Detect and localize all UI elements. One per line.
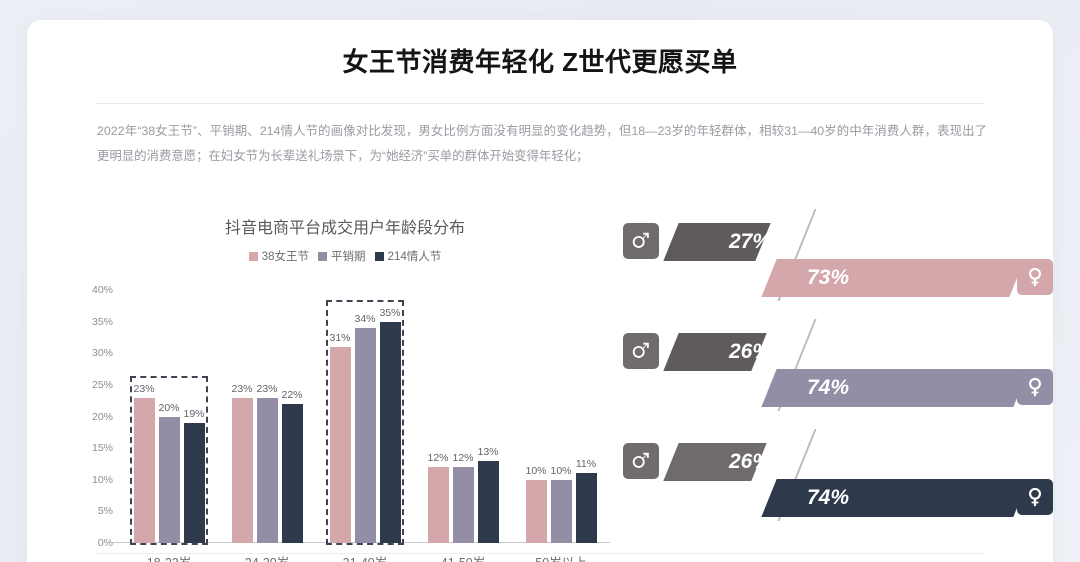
- bar-groups: 23%20%19%23%23%22%31%34%35%12%12%13%10%1…: [120, 290, 610, 543]
- bar[interactable]: [159, 417, 180, 544]
- bottom-divider: [95, 553, 985, 554]
- female-percent-bar[interactable]: 74%: [761, 369, 1028, 407]
- male-percent-label: 26%: [729, 450, 771, 474]
- bar[interactable]: [478, 461, 499, 543]
- legend-swatch: [249, 252, 258, 261]
- chart-plot-area: 0%5%10%15%20%25%30%35%40% 23%20%19%23%23…: [120, 290, 610, 543]
- bar-group: 23%23%22%: [218, 290, 316, 543]
- y-axis-tick: 25%: [92, 379, 113, 391]
- bar-value-label: 10%: [550, 465, 571, 477]
- bar-value-label: 23%: [256, 383, 277, 395]
- bar[interactable]: [380, 322, 401, 543]
- bar-wrap: 31%: [330, 290, 351, 543]
- bar-group: 12%12%13%: [414, 290, 512, 543]
- bar[interactable]: [184, 423, 205, 543]
- bar-wrap: 34%: [355, 290, 376, 543]
- bar[interactable]: [232, 398, 253, 543]
- bar-value-label: 19%: [183, 408, 204, 420]
- bar-value-label: 12%: [452, 452, 473, 464]
- bar-wrap: 11%: [576, 290, 597, 543]
- bar-value-label: 23%: [133, 383, 154, 395]
- bar[interactable]: [428, 467, 449, 543]
- chart-legend: 38女王节平销期214情人节: [65, 248, 625, 264]
- bar-value-label: 23%: [231, 383, 252, 395]
- title-divider: [95, 103, 985, 104]
- gender-split-chart: 27%73%26%74%26%74%: [623, 205, 1053, 562]
- venus-icon: [1017, 479, 1053, 515]
- bar-group: 23%20%19%: [120, 290, 218, 543]
- female-percent-label: 74%: [807, 486, 849, 510]
- bar-value-label: 13%: [477, 446, 498, 458]
- bar-value-label: 11%: [576, 458, 596, 470]
- y-axis-tick: 5%: [98, 505, 113, 517]
- legend-swatch: [375, 252, 384, 261]
- bar[interactable]: [576, 473, 597, 543]
- bar[interactable]: [526, 480, 547, 543]
- female-percent-label: 73%: [807, 266, 849, 290]
- bar[interactable]: [330, 347, 351, 543]
- gender-split-row: 26%74%: [623, 425, 1053, 525]
- bar-wrap: 23%: [232, 290, 253, 543]
- legend-label: 平销期: [331, 248, 366, 264]
- intro-paragraph: 2022年“38女王节”、平销期、214情人节的画像对比发现，男女比例方面没有明…: [97, 119, 987, 169]
- female-percent-label: 74%: [807, 376, 849, 400]
- bar[interactable]: [134, 398, 155, 543]
- y-axis-tick: 10%: [92, 474, 113, 486]
- mars-icon: [623, 223, 659, 259]
- bar-value-label: 31%: [329, 332, 350, 344]
- y-axis-tick: 30%: [92, 347, 113, 359]
- legend-item: 214情人节: [375, 248, 442, 264]
- y-axis-tick: 20%: [92, 411, 113, 423]
- bar-wrap: 10%: [551, 290, 572, 543]
- bar-group: 31%34%35%: [316, 290, 414, 543]
- bar-wrap: 23%: [134, 290, 155, 543]
- y-axis-tick: 40%: [92, 284, 113, 296]
- bar[interactable]: [282, 404, 303, 543]
- male-percent-label: 27%: [729, 230, 771, 254]
- legend-label: 214情人节: [388, 248, 442, 264]
- bar-value-label: 35%: [379, 307, 400, 319]
- legend-item: 38女王节: [249, 248, 309, 264]
- male-percent-bar[interactable]: 26%: [663, 443, 767, 481]
- bar-wrap: 23%: [257, 290, 278, 543]
- y-axis-tick: 35%: [92, 316, 113, 328]
- bar[interactable]: [453, 467, 474, 543]
- bar-wrap: 20%: [159, 290, 180, 543]
- gender-split-row: 26%74%: [623, 315, 1053, 415]
- bar-wrap: 12%: [428, 290, 449, 543]
- bar[interactable]: [551, 480, 572, 543]
- infographic-card: 女王节消费年轻化 Z世代更愿买单 2022年“38女王节”、平销期、214情人节…: [27, 20, 1053, 562]
- bar[interactable]: [355, 328, 376, 543]
- female-percent-bar[interactable]: 73%: [761, 259, 1025, 297]
- bar-value-label: 34%: [354, 313, 375, 325]
- venus-icon: [1017, 369, 1053, 405]
- chart-title: 抖音电商平台成交用户年龄段分布: [65, 214, 625, 238]
- page-title: 女王节消费年轻化 Z世代更愿买单: [27, 42, 1053, 79]
- bar-value-label: 10%: [525, 465, 546, 477]
- bar[interactable]: [257, 398, 278, 543]
- y-axis-tick: 15%: [92, 442, 113, 454]
- age-distribution-chart: 抖音电商平台成交用户年龄段分布 38女王节平销期214情人节 0%5%10%15…: [65, 190, 625, 562]
- y-axis-tick: 0%: [98, 537, 113, 549]
- bar-wrap: 19%: [184, 290, 205, 543]
- bar-wrap: 12%: [453, 290, 474, 543]
- legend-label: 38女王节: [262, 248, 309, 264]
- bar-group: 10%10%11%: [512, 290, 610, 543]
- male-percent-bar[interactable]: 27%: [663, 223, 770, 261]
- bar-value-label: 22%: [281, 389, 302, 401]
- legend-item: 平销期: [318, 248, 366, 264]
- legend-swatch: [318, 252, 327, 261]
- female-percent-bar[interactable]: 74%: [761, 479, 1028, 517]
- bar-wrap: 13%: [478, 290, 499, 543]
- bar-wrap: 35%: [380, 290, 401, 543]
- bar-wrap: 10%: [526, 290, 547, 543]
- mars-icon: [623, 333, 659, 369]
- bar-value-label: 20%: [158, 402, 179, 414]
- gender-split-row: 27%73%: [623, 205, 1053, 305]
- bar-wrap: 22%: [282, 290, 303, 543]
- male-percent-bar[interactable]: 26%: [663, 333, 767, 371]
- mars-icon: [623, 443, 659, 479]
- male-percent-label: 26%: [729, 340, 771, 364]
- venus-icon: [1017, 259, 1053, 295]
- bar-value-label: 12%: [427, 452, 448, 464]
